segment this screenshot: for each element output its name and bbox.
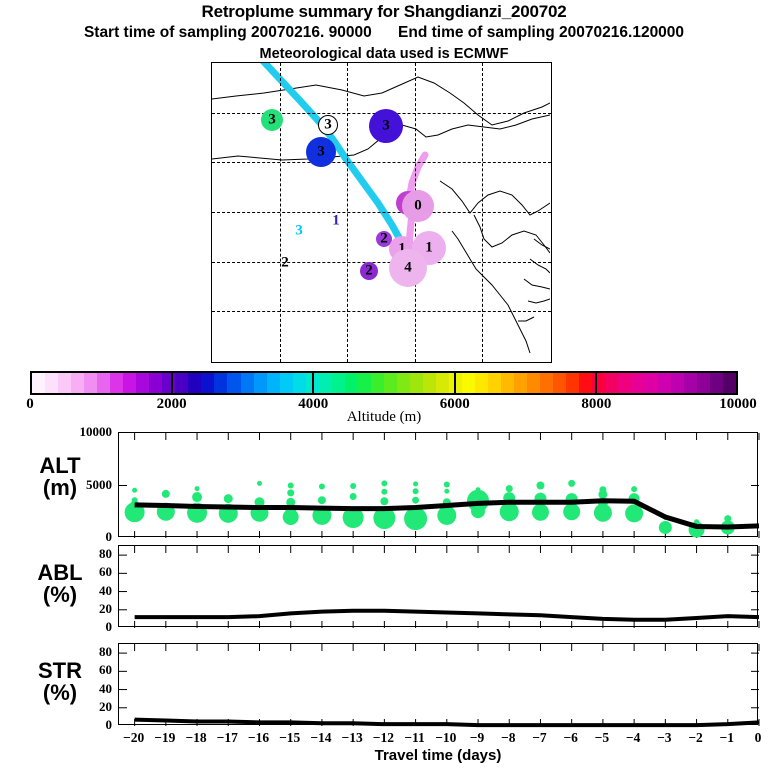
colorbar-swatch [280, 373, 293, 393]
y-tick-label: 5000 [86, 477, 112, 493]
str-label-line2: (%) [8, 682, 112, 704]
colorbar-swatch [371, 373, 384, 393]
colorbar-swatch [32, 373, 45, 393]
colorbar-swatch [423, 373, 436, 393]
alt-label-line1: ALT [8, 455, 112, 477]
x-tick-label: −8 [501, 730, 515, 746]
colorbar-swatch [592, 373, 605, 393]
map-marker-label: 2 [380, 232, 388, 247]
colorbar-swatch [214, 373, 227, 393]
x-tick-label: −3 [657, 730, 671, 746]
colorbar-tick-label: 2000 [157, 396, 187, 413]
x-tick-label: −4 [626, 730, 640, 746]
x-tick-label: −2 [688, 730, 702, 746]
x-tick-label: −19 [154, 730, 175, 746]
x-tick-label: −10 [435, 730, 456, 746]
y-tick-label: 20 [99, 601, 112, 617]
map-marker-label: 3 [268, 113, 276, 128]
colorbar-swatch [462, 373, 475, 393]
colorbar-swatch [436, 373, 449, 393]
y-tick-label: 80 [99, 644, 112, 660]
colorbar-divider [171, 371, 173, 395]
y-tick-label: 60 [99, 564, 112, 580]
x-tick-label: −5 [595, 730, 609, 746]
x-tick-label: −1 [720, 730, 734, 746]
y-tick-label: 20 [99, 699, 112, 715]
colorbar-swatch [527, 373, 540, 393]
colorbar-swatch [358, 373, 371, 393]
sampling-time-line: Start time of sampling 20070216. 90000 E… [0, 24, 768, 42]
x-tick-label: −20 [123, 730, 144, 746]
colorbar-swatch [618, 373, 631, 393]
colorbar-swatch [566, 373, 579, 393]
colorbar-swatch [697, 373, 710, 393]
colorbar-swatch [45, 373, 58, 393]
y-tick-label: 0 [106, 529, 113, 545]
colorbar-swatch [488, 373, 501, 393]
y-tick-label: 0 [106, 717, 113, 733]
abl-plot [119, 546, 759, 628]
x-tick-label: −18 [185, 730, 206, 746]
map-marker-label: 3 [295, 224, 303, 239]
colorbar-swatch [345, 373, 358, 393]
colorbar-tick-label: 4000 [298, 396, 328, 413]
x-tick-label: −12 [373, 730, 394, 746]
colorbar-swatch [710, 373, 723, 393]
colorbar-swatch [684, 373, 697, 393]
x-tick-label: −11 [404, 730, 424, 746]
colorbar-swatch [136, 373, 149, 393]
map-marker-label: 2 [281, 256, 289, 271]
x-tick-label: −9 [470, 730, 484, 746]
colorbar-swatch [293, 373, 306, 393]
map-marker-label: 3 [382, 119, 390, 134]
map-gridline-horizontal [212, 162, 551, 163]
colorbar-divider [312, 371, 314, 395]
colorbar-swatch [723, 373, 736, 393]
map-marker-label: 0 [414, 199, 422, 214]
x-tick-label: −15 [279, 730, 300, 746]
colorbar-tick-label: 0 [26, 396, 34, 413]
map-gridline-horizontal [212, 262, 551, 263]
abl-row-label: ABL (%) [8, 562, 112, 607]
colorbar-swatch [58, 373, 71, 393]
map-marker-label: 2 [365, 264, 373, 279]
map-gridline-vertical [280, 63, 281, 362]
colorbar-swatch [84, 373, 97, 393]
alt-plot [119, 433, 759, 538]
colorbar-title: Altitude (m) [0, 409, 768, 426]
colorbar-swatch [475, 373, 488, 393]
colorbar-divider [595, 371, 597, 395]
colorbar-swatch [631, 373, 644, 393]
colorbar-swatch [254, 373, 267, 393]
colorbar-swatch [501, 373, 514, 393]
map-gridline-horizontal [212, 212, 551, 213]
colorbar-swatch [227, 373, 240, 393]
map-marker-label: 1 [332, 214, 340, 229]
x-tick-label: −7 [532, 730, 546, 746]
x-tick-label: 0 [755, 730, 762, 746]
str-row-label: STR (%) [8, 660, 112, 705]
abl-label-line2: (%) [8, 584, 112, 606]
colorbar-swatch [579, 373, 592, 393]
y-tick-label: 80 [99, 546, 112, 562]
colorbar-swatch [267, 373, 280, 393]
colorbar-swatch [188, 373, 201, 393]
map-marker-label: 3 [317, 145, 325, 160]
colorbar-swatch [241, 373, 254, 393]
map-canvas: 33330031222114 [212, 63, 551, 362]
map-marker-label: 4 [404, 261, 412, 276]
met-data-label: Meteorological data used is ECMWF [0, 46, 768, 62]
colorbar-swatch [658, 373, 671, 393]
map-marker-label: 1 [425, 241, 433, 256]
map-gridline-vertical [347, 63, 348, 362]
x-tick-label: −6 [563, 730, 577, 746]
colorbar-swatch [71, 373, 84, 393]
colorbar-swatch [514, 373, 527, 393]
x-tick-label: −13 [342, 730, 363, 746]
x-tick-label: −14 [310, 730, 331, 746]
map-marker-label: 3 [324, 118, 332, 133]
colorbar-swatch [605, 373, 618, 393]
y-tick-label: 10000 [80, 424, 113, 440]
alt-panel[interactable] [118, 432, 758, 537]
colorbar-swatch [332, 373, 345, 393]
map-gridline-horizontal [212, 311, 551, 312]
colorbar-swatch [644, 373, 657, 393]
page-title: Retroplume summary for Shangdianzi_20070… [0, 2, 768, 22]
colorbar-divider [454, 371, 456, 395]
x-tick-label: −16 [248, 730, 269, 746]
colorbar-gradient [30, 371, 738, 395]
colorbar-swatch [110, 373, 123, 393]
colorbar-swatch [162, 373, 175, 393]
str-plot [119, 644, 759, 726]
x-tick-label: −17 [217, 730, 238, 746]
str-label-line1: STR [8, 660, 112, 682]
altitude-colorbar[interactable] [30, 371, 738, 395]
colorbar-swatch [384, 373, 397, 393]
colorbar-swatch [123, 373, 136, 393]
end-time-label: End time of sampling 20070216.120000 [398, 24, 684, 42]
y-tick-label: 40 [99, 681, 112, 697]
colorbar-swatch [319, 373, 332, 393]
colorbar-swatch [540, 373, 553, 393]
abl-label-line1: ABL [8, 562, 112, 584]
colorbar-swatch [201, 373, 214, 393]
colorbar-swatch [410, 373, 423, 393]
colorbar-tick-label: 10000 [719, 396, 757, 413]
y-tick-label: 60 [99, 662, 112, 678]
x-axis-title: Travel time (days) [118, 747, 758, 764]
abl-panel[interactable] [118, 545, 758, 627]
colorbar-tick-label: 8000 [581, 396, 611, 413]
map-gridline-vertical [482, 63, 483, 362]
str-panel[interactable] [118, 643, 758, 725]
y-tick-label: 40 [99, 583, 112, 599]
colorbar-swatch [553, 373, 566, 393]
retroplume-map[interactable]: 33330031222114 [211, 62, 552, 363]
colorbar-swatch [175, 373, 188, 393]
colorbar-swatch [97, 373, 110, 393]
colorbar-swatch [397, 373, 410, 393]
colorbar-swatch [671, 373, 684, 393]
y-tick-label: 0 [106, 619, 113, 635]
colorbar-swatch [149, 373, 162, 393]
colorbar-tick-label: 6000 [440, 396, 470, 413]
start-time-label: Start time of sampling 20070216. 90000 [84, 24, 372, 42]
